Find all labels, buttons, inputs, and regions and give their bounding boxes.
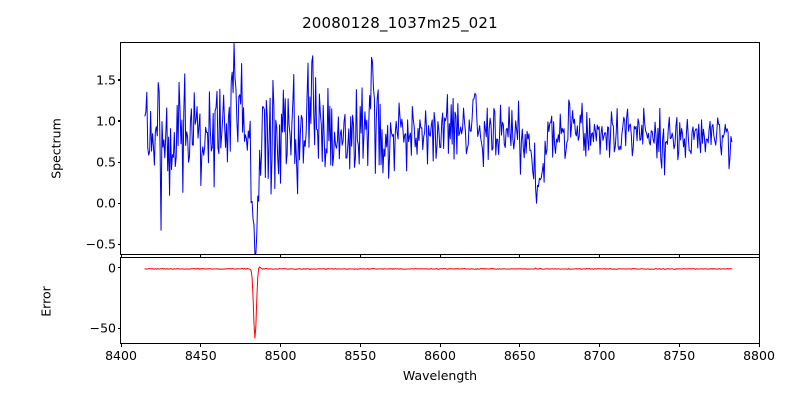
- x-tick-mark: [679, 343, 680, 347]
- y-tick-mark: [118, 120, 122, 121]
- x-tick-mark: [440, 343, 441, 347]
- x-tick-label: 8400: [105, 348, 137, 363]
- y-tick-label: 1.0: [96, 113, 116, 128]
- y-tick-mark: [118, 267, 122, 268]
- x-tick-mark: [759, 343, 760, 347]
- error-y-axis-label: Error: [39, 242, 54, 362]
- x-tick-label: 8700: [584, 348, 616, 363]
- y-tick-mark: [118, 328, 122, 329]
- y-tick-mark: [118, 162, 122, 163]
- x-tick-label: 8450: [185, 348, 217, 363]
- x-tick-label: 8500: [265, 348, 297, 363]
- y-tick-mark: [118, 79, 122, 80]
- x-tick-label: 8650: [504, 348, 536, 363]
- spectrum-trace: [121, 43, 759, 254]
- x-tick-label: 8600: [424, 348, 456, 363]
- spectrum-y-axis-label: Spectrum: [49, 89, 64, 209]
- chart-title: 20080128_1037m25_021: [0, 14, 800, 32]
- spectrum-axes: 1.51.00.50.0−0.5: [120, 42, 760, 255]
- x-axis-label: Wavelength: [120, 368, 760, 383]
- error-trace: [121, 258, 759, 343]
- y-tick-label: 1.5: [96, 72, 116, 87]
- x-tick-mark: [280, 343, 281, 347]
- x-tick-mark: [200, 343, 201, 347]
- y-tick-label: −50: [90, 321, 116, 336]
- x-tick-mark: [360, 343, 361, 347]
- figure: 20080128_1037m25_021 1.51.00.50.0−0.5 0−…: [0, 0, 800, 400]
- y-tick-label: 0.5: [96, 155, 116, 170]
- y-tick-label: −0.5: [86, 237, 116, 252]
- y-tick-label: 0.0: [96, 196, 116, 211]
- error-line: [145, 267, 732, 338]
- y-tick-label: 0: [108, 260, 116, 275]
- error-axes: 0−50840084508500855086008650870087508800: [120, 257, 760, 344]
- x-tick-label: 8550: [344, 348, 376, 363]
- spectrum-line: [145, 43, 732, 254]
- y-tick-mark: [118, 244, 122, 245]
- y-tick-mark: [118, 203, 122, 204]
- x-tick-mark: [599, 343, 600, 347]
- x-tick-label: 8800: [743, 348, 775, 363]
- x-tick-label: 8750: [663, 348, 695, 363]
- x-tick-mark: [519, 343, 520, 347]
- x-tick-mark: [121, 343, 122, 347]
